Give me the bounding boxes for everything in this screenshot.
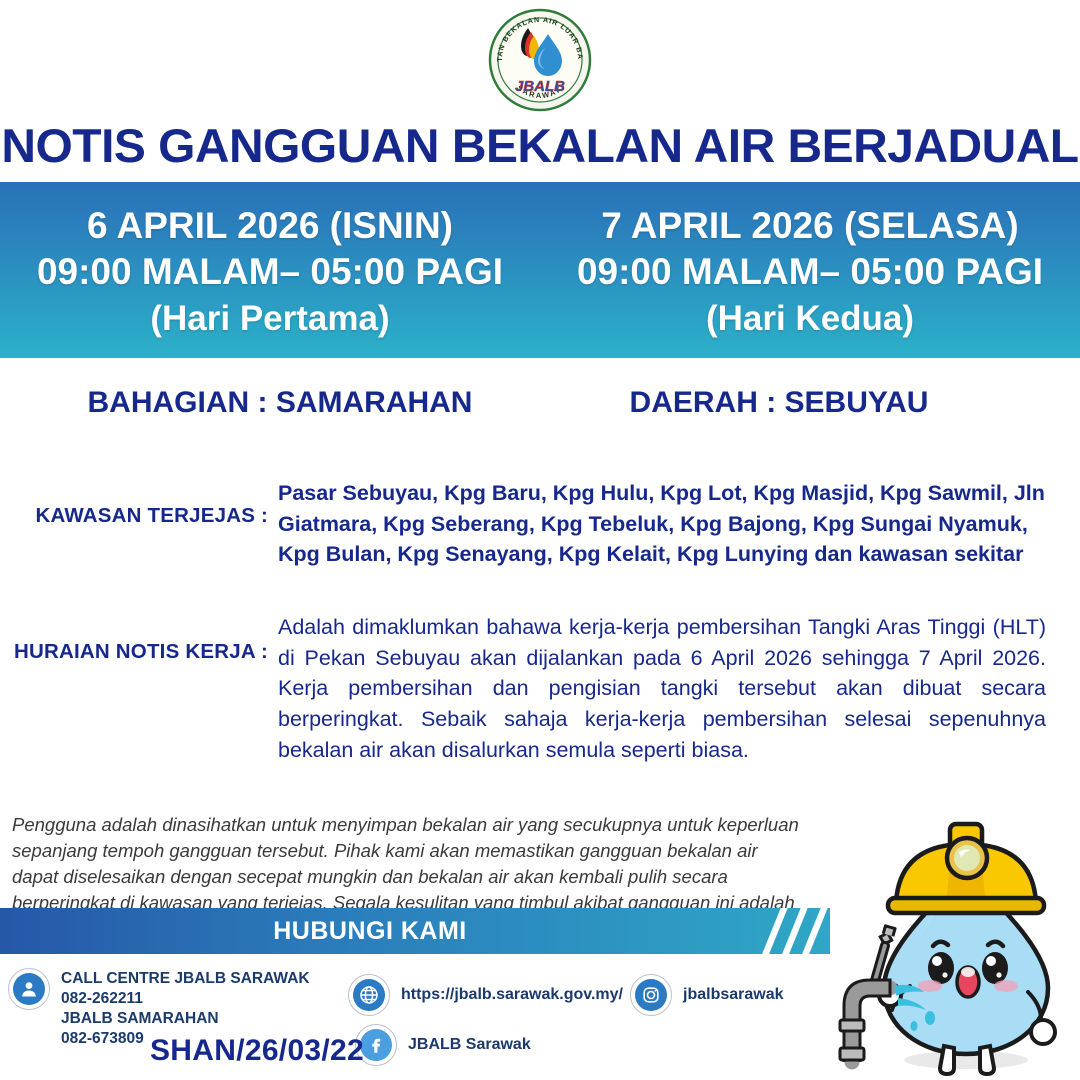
reference-number: SHAN/26/03/22 bbox=[150, 1034, 364, 1068]
contact-bar-title: HUBUNGI KAMI bbox=[273, 917, 467, 946]
affected-areas-label: KAWASAN TERJEJAS : bbox=[0, 478, 278, 528]
work-description-row: HURAIAN NOTIS KERJA : Adalah dimaklumkan… bbox=[0, 612, 1080, 766]
schedule-day-2: 7 APRIL 2026 (SELASA) 09:00 MALAM– 05:00… bbox=[540, 182, 1080, 358]
contact-bar: HUBUNGI KAMI bbox=[0, 908, 830, 954]
page-title: NOTIS GANGGUAN BEKALAN AIR BERJADUAL bbox=[0, 118, 1080, 173]
schedule-day-1-time: 09:00 MALAM– 05:00 PAGI bbox=[37, 249, 503, 296]
schedule-day-1-date: 6 APRIL 2026 (ISNIN) bbox=[87, 203, 453, 250]
instagram-icon bbox=[630, 974, 672, 1016]
water-disruption-notice: JABATAN BEKALAN AIR LUAR BANDAR SARAWAK … bbox=[0, 0, 1080, 1080]
region-row: BAHAGIAN : SAMARAHAN DAERAH : SEBUYAU bbox=[0, 386, 1080, 420]
globe-icon bbox=[348, 974, 390, 1016]
logo-container: JABATAN BEKALAN AIR LUAR BANDAR SARAWAK … bbox=[0, 6, 1080, 114]
contact-instagram[interactable]: jbalbsarawak bbox=[630, 974, 784, 1016]
contact-website[interactable]: https://jbalb.sarawak.gov.my/ bbox=[348, 974, 623, 1016]
affected-areas-line: Giatmara, Kpg Seberang, Kpg Tebeluk, Kpg… bbox=[278, 509, 1046, 540]
district-label: DAERAH : SEBUYAU bbox=[560, 386, 1080, 420]
affected-areas-line: Pasar Sebuyau, Kpg Baru, Kpg Hulu, Kpg L… bbox=[278, 478, 1046, 509]
affected-areas-row: KAWASAN TERJEJAS : Pasar Sebuyau, Kpg Ba… bbox=[0, 478, 1080, 570]
contact-facebook[interactable]: JBALB Sarawak bbox=[355, 1024, 531, 1066]
jbalb-logo-icon: JABATAN BEKALAN AIR LUAR BANDAR SARAWAK … bbox=[488, 8, 592, 112]
work-description-body: Adalah dimaklumkan bahawa kerja-kerja pe… bbox=[278, 612, 1046, 766]
schedule-day-1-label: (Hari Pertama) bbox=[150, 296, 389, 342]
facebook-page[interactable]: JBALB Sarawak bbox=[408, 1024, 531, 1056]
schedule-day-1: 6 APRIL 2026 (ISNIN) 09:00 MALAM– 05:00 … bbox=[0, 182, 540, 358]
website-url[interactable]: https://jbalb.sarawak.gov.my/ bbox=[401, 974, 623, 1006]
water-droplet-mascot bbox=[838, 810, 1076, 1078]
svg-text:JBALB: JBALB bbox=[515, 78, 565, 95]
water-droplet-mascot-icon bbox=[838, 810, 1076, 1078]
division-label: BAHAGIAN : SAMARAHAN bbox=[0, 386, 560, 420]
schedule-day-2-date: 7 APRIL 2026 (SELASA) bbox=[601, 203, 1018, 250]
schedule-day-2-label: (Hari Kedua) bbox=[706, 296, 914, 342]
affected-areas-body: Pasar Sebuyau, Kpg Baru, Kpg Hulu, Kpg L… bbox=[278, 478, 1046, 570]
schedule-banner: 6 APRIL 2026 (ISNIN) 09:00 MALAM– 05:00 … bbox=[0, 182, 1080, 358]
jbalb-logo: JABATAN BEKALAN AIR LUAR BANDAR SARAWAK … bbox=[488, 8, 592, 112]
person-icon bbox=[8, 968, 50, 1010]
slash-decoration bbox=[754, 908, 824, 954]
instagram-handle[interactable]: jbalbsarawak bbox=[683, 974, 784, 1006]
call-centre-number: 082-262211 bbox=[61, 989, 310, 1009]
branch-name: JBALB SAMARAHAN bbox=[61, 1009, 310, 1029]
call-centre-name: CALL CENTRE JBALB SARAWAK bbox=[61, 969, 310, 989]
affected-areas-line: Kpg Bulan, Kpg Senayang, Kpg Kelait, Kpg… bbox=[278, 539, 1046, 570]
schedule-day-2-time: 09:00 MALAM– 05:00 PAGI bbox=[577, 249, 1043, 296]
work-description-label: HURAIAN NOTIS KERJA : bbox=[0, 612, 278, 664]
